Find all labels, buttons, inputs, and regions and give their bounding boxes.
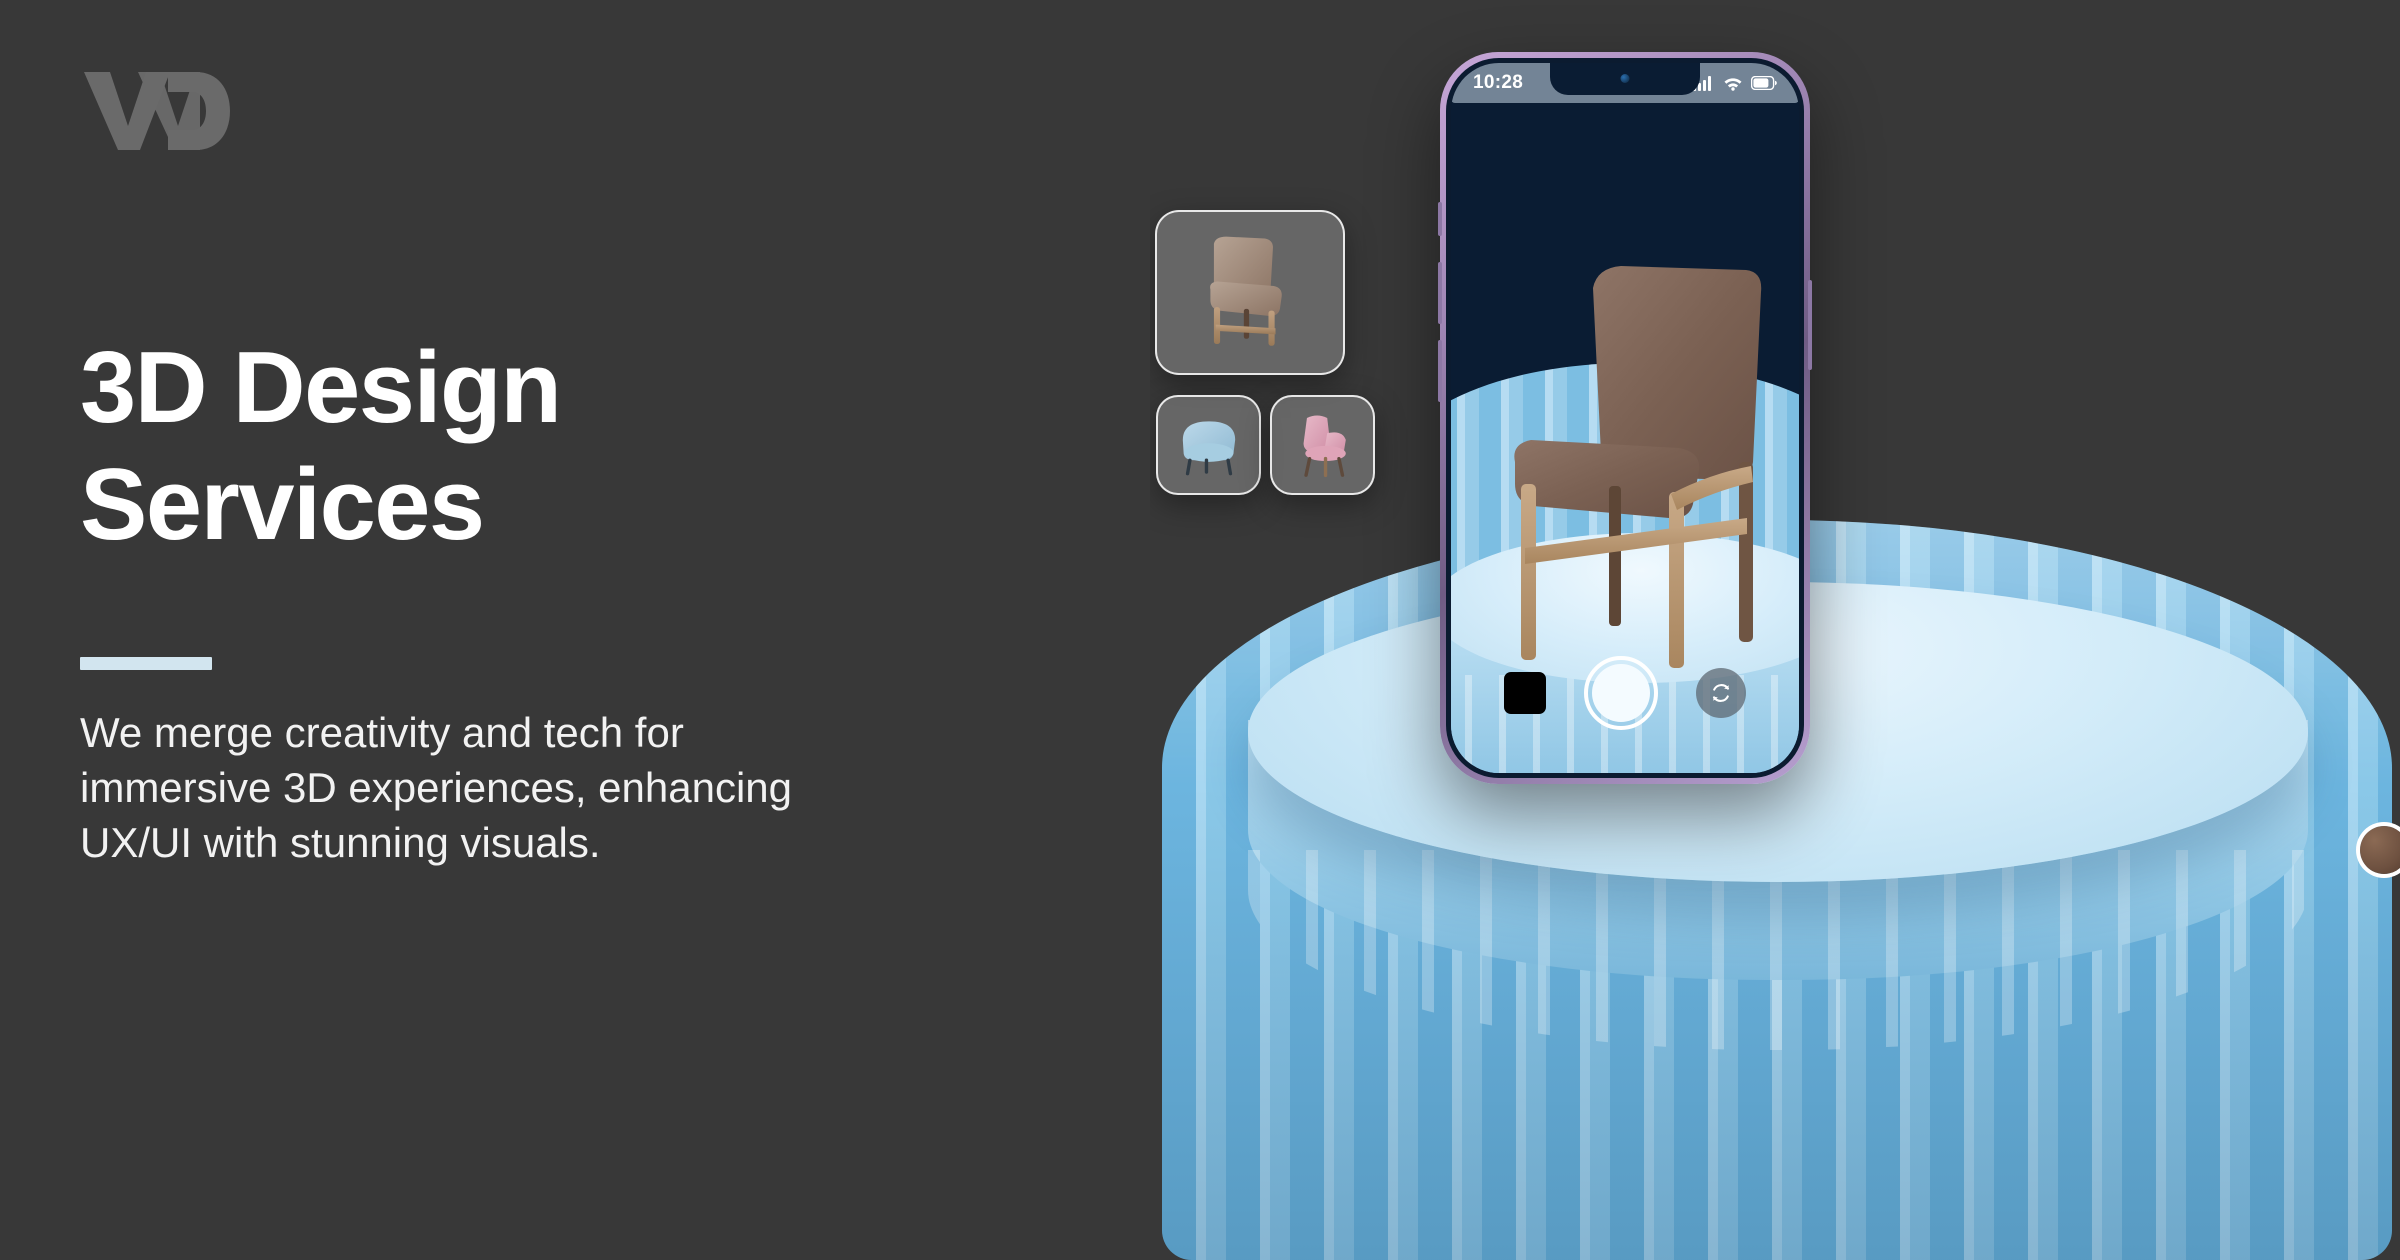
power-button[interactable]	[1808, 280, 1812, 370]
blue-chair-thumbnail	[1171, 409, 1247, 481]
subcopy-line-1: We merge creativity and tech for	[80, 705, 1080, 760]
shutter-button[interactable]	[1584, 656, 1658, 730]
subcopy-line-2: immersive 3D experiences, enhancing	[80, 760, 1080, 815]
material-swatch-group	[2360, 820, 2400, 880]
subcopy-line-3: UX/UI with stunning visuals.	[80, 815, 1080, 870]
chair-card-pink[interactable]	[1270, 395, 1375, 495]
status-time: 10:28	[1473, 72, 1523, 94]
phone-mockup: 10:28	[1440, 52, 1810, 784]
front-camera-icon	[1621, 74, 1630, 83]
volume-up-button[interactable]	[1438, 262, 1442, 324]
phone-screen: 10:28	[1451, 63, 1799, 773]
phone-bezel: 10:28	[1446, 58, 1804, 778]
taupe-chair-thumbnail	[1184, 231, 1316, 355]
ar-showcase-scene: 10:28	[1150, 0, 2400, 1260]
wd-monogram-logo[interactable]	[82, 68, 222, 148]
accent-divider	[80, 657, 212, 670]
headline-line-2: Services	[80, 447, 980, 564]
gallery-thumbnail-button[interactable]	[1504, 672, 1546, 714]
wifi-icon	[1723, 75, 1743, 91]
page-title: 3D Design Services	[80, 330, 980, 564]
chair-card-taupe[interactable]	[1155, 210, 1345, 375]
flip-camera-button[interactable]	[1696, 668, 1746, 718]
hero-subcopy: We merge creativity and tech for immersi…	[80, 705, 1080, 870]
swatch-wood-brown[interactable]	[2360, 826, 2400, 874]
ar-chair-model[interactable]	[1501, 248, 1781, 678]
volume-down-button[interactable]	[1438, 340, 1442, 402]
mute-switch[interactable]	[1438, 202, 1442, 236]
status-icon-group	[1693, 75, 1777, 91]
battery-icon	[1751, 76, 1777, 90]
chair-card-blue[interactable]	[1156, 395, 1261, 495]
headline-line-1: 3D Design	[80, 330, 980, 447]
pink-chair-thumbnail	[1285, 409, 1361, 481]
flip-camera-icon	[1707, 679, 1735, 707]
hero-left-pane: 3D Design Services We merge creativity a…	[0, 0, 1150, 1260]
camera-controls	[1451, 653, 1799, 733]
